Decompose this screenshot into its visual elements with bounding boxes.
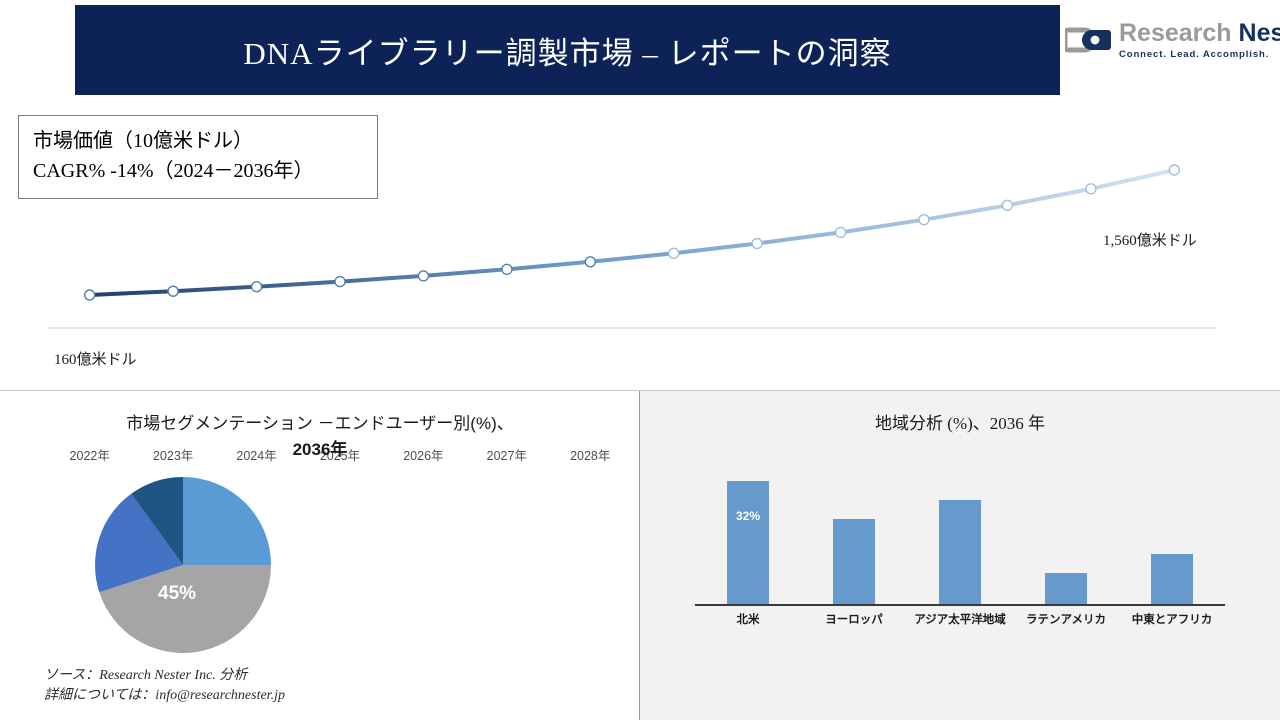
line-data-point	[1002, 200, 1012, 210]
logo-wordmark: Research Nester	[1119, 21, 1280, 46]
report-infographic-page: DNAライブラリー調製市場 – レポートの洞察 Research Nester …	[0, 0, 1280, 720]
bar[interactable]	[1151, 554, 1193, 604]
regional-bars: 32%	[695, 469, 1225, 604]
bar-chart-x-axis-labels: 北米ヨーロッパアジア太平洋地域ラテンアメリカ中東とアフリカ	[695, 611, 1225, 627]
source-line: ソース：Research Nester Inc. 分析	[44, 666, 285, 686]
logo-word-nester: Nester	[1239, 19, 1280, 47]
bar-x-tick-label: ラテンアメリカ	[1013, 611, 1119, 627]
line-start-value-label: 160億米ドル	[54, 348, 137, 369]
bar-column	[801, 469, 907, 604]
bar-chart-axis	[695, 604, 1225, 606]
bar[interactable]	[833, 519, 875, 604]
pie-chart	[88, 475, 278, 655]
line-data-point	[669, 248, 679, 258]
pie-slices	[95, 477, 271, 653]
bar-value-label: 32%	[736, 509, 760, 523]
pie-chart-svg	[88, 475, 278, 655]
bar[interactable]	[1045, 573, 1087, 604]
brand-logo: Research Nester Connect. Lead. Accomplis…	[1065, 14, 1277, 66]
pie-slice	[183, 477, 271, 565]
market-value-line-chart: 160億米ドル 1,560億米ドル 2022年2023年2024年2025年20…	[0, 100, 1280, 385]
line-end-value-label: 1,560億米ドル	[1103, 229, 1197, 250]
line-data-point	[502, 264, 512, 274]
segmentation-title: 市場セグメンテーション －エンドユーザー別(%)、 2036年	[30, 411, 610, 462]
research-nester-logo-icon	[1065, 24, 1111, 56]
bar-column	[1119, 469, 1225, 604]
page-title: DNAライブラリー調製市場 – レポートの洞察	[243, 28, 891, 73]
line-data-point	[585, 257, 595, 267]
line-data-point	[919, 215, 929, 225]
line-data-point	[418, 271, 428, 281]
pie-data-label: 45%	[158, 583, 196, 605]
bar-x-tick-label: ヨーロッパ	[801, 611, 907, 627]
line-data-point	[85, 290, 95, 300]
line-data-point	[168, 286, 178, 296]
line-markers	[85, 165, 1180, 300]
bar-x-tick-label: アジア太平洋地域	[907, 611, 1013, 627]
source-footer: ソース：Research Nester Inc. 分析 詳細については：info…	[44, 666, 285, 707]
line-chart-svg	[0, 100, 1280, 385]
segmentation-title-line2: 2036年	[293, 440, 348, 459]
regional-analysis-section: 地域分析 (%)、2036 年 32% 北米ヨーロッパアジア太平洋地域ラテンアメ…	[640, 391, 1280, 720]
line-data-point	[1086, 184, 1096, 194]
logo-word-research: Research	[1119, 19, 1232, 47]
regional-analysis-title: 地域分析 (%)、2036 年	[640, 409, 1280, 434]
line-series	[90, 170, 1175, 295]
line-path	[90, 170, 1175, 295]
bar-column	[907, 469, 1013, 604]
logo-text: Research Nester Connect. Lead. Accomplis…	[1119, 21, 1280, 60]
bar-x-tick-label: 中東とアフリカ	[1119, 611, 1225, 627]
bar-column	[1013, 469, 1119, 604]
line-data-point	[752, 239, 762, 249]
line-data-point	[335, 277, 345, 287]
line-data-point	[836, 227, 846, 237]
bar[interactable]: 32%	[727, 481, 769, 604]
logo-tagline: Connect. Lead. Accomplish.	[1119, 50, 1280, 60]
line-data-point	[252, 282, 262, 292]
contact-line: 詳細については：info@researchnester.jp	[44, 686, 285, 706]
segmentation-title-line1: 市場セグメンテーション －エンドユーザー別(%)、	[126, 414, 513, 433]
header-bar: DNAライブラリー調製市場 – レポートの洞察	[75, 5, 1060, 95]
bar-column: 32%	[695, 469, 801, 604]
line-data-point	[1169, 165, 1179, 175]
bar[interactable]	[939, 500, 981, 604]
bar-x-tick-label: 北米	[695, 611, 801, 627]
